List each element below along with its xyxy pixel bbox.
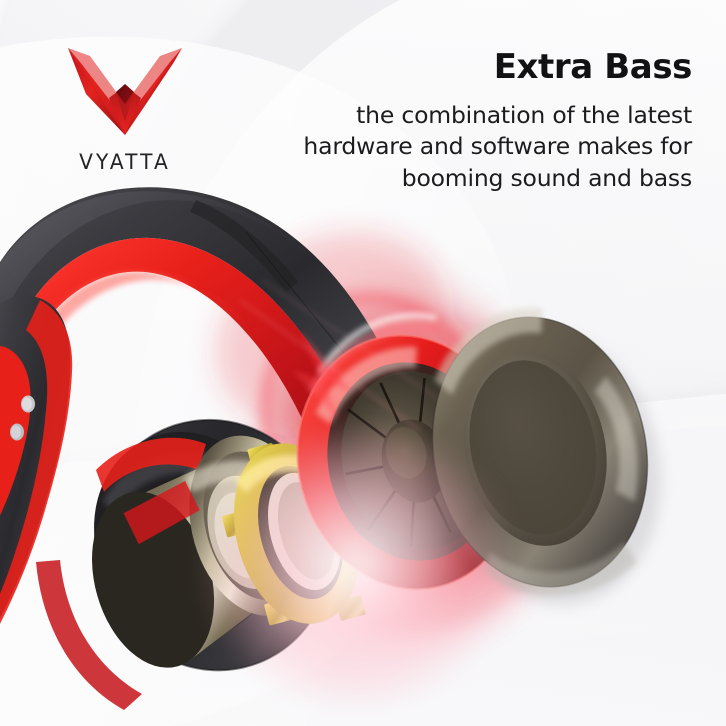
bass-glow-core (248, 300, 578, 630)
bass-glow-soft (206, 430, 506, 700)
left-earcup-arm (0, 295, 72, 660)
barrel-front-face (169, 420, 339, 631)
headband-highlight (0, 191, 364, 322)
left-cup-red-rim (96, 438, 206, 492)
gold-ring-teeth (207, 427, 380, 644)
headband-group (0, 187, 424, 474)
subcopy-line-3: booming sound and bass (222, 163, 692, 194)
ear-cushion-pad (406, 287, 686, 627)
right-earcup-group (271, 312, 546, 614)
headband-seam (190, 200, 298, 292)
driver-spokes (326, 362, 506, 558)
poster-canvas: VYATTA Extra Bass the combination of the… (0, 0, 726, 726)
background-swoosh-bottom-right (173, 319, 726, 726)
background-swoosh-bottom (0, 361, 726, 726)
subcopy: the combination of the latest hardware a… (222, 100, 692, 194)
driver-dome (373, 412, 455, 509)
headband-outer (0, 187, 424, 474)
ambient-red-glow (182, 194, 564, 663)
subcopy-line-2: hardware and software makes for (222, 131, 692, 162)
speaker-driver (323, 355, 510, 565)
left-earcup-housing (63, 389, 365, 702)
copy-block: Extra Bass the combination of the latest… (222, 50, 692, 194)
headband-panel-line (246, 232, 424, 452)
left-cup-red-edge (36, 560, 142, 710)
brand-block: VYATTA (40, 42, 210, 174)
glow-flare-streaks (240, 280, 440, 430)
driver-barrel-group (65, 420, 345, 682)
subcopy-line-1: the combination of the latest (222, 100, 692, 131)
headline-extra-bass: Extra Bass (222, 50, 692, 86)
adjust-button-lower (10, 424, 24, 441)
earcup-rim-glow (312, 316, 438, 392)
headband-red-cushion (22, 238, 368, 490)
brand-wordmark: VYATTA (43, 150, 206, 174)
vyatta-v-chevron-icon (64, 42, 186, 142)
bass-glow-streak (229, 263, 520, 570)
adjust-button-upper (21, 396, 35, 413)
gold-retainer-ring (207, 427, 380, 644)
